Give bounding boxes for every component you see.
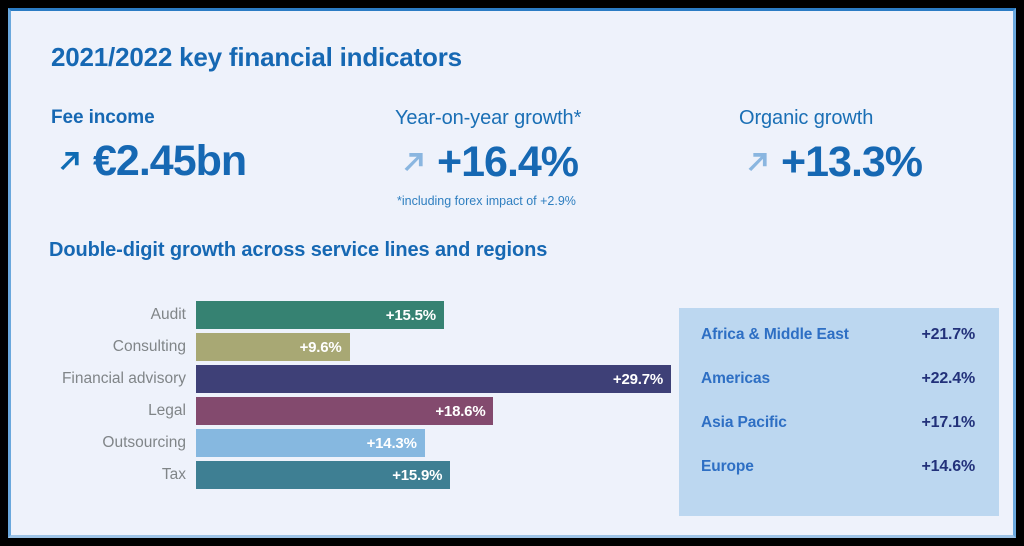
service-lines-bar-chart: Audit+15.5%Consulting+9.6%Financial advi… — [31, 301, 671, 493]
bar-value-label: +18.6% — [435, 403, 493, 420]
bar-category-label: Tax — [31, 466, 196, 484]
region-name: Africa & Middle East — [701, 326, 849, 344]
bar-value-label: +29.7% — [613, 371, 671, 388]
bar-track: +14.3% — [196, 429, 671, 457]
bar-category-label: Financial advisory — [31, 370, 196, 388]
arrow-up-right-icon — [739, 145, 773, 179]
bar-fill: +9.6% — [196, 333, 350, 361]
bar-value-label: +9.6% — [300, 339, 350, 356]
kpi-footnote: *including forex impact of +2.9% — [395, 194, 581, 208]
region-row: Europe+14.6% — [701, 458, 975, 502]
bar-row: Consulting+9.6% — [31, 333, 671, 361]
bar-value-label: +14.3% — [367, 435, 425, 452]
region-value: +17.1% — [921, 414, 975, 432]
region-value: +14.6% — [921, 458, 975, 476]
kpi-fee-income: Fee income €2.45bn — [51, 107, 246, 187]
bar-fill: +15.5% — [196, 301, 444, 329]
bar-row: Outsourcing+14.3% — [31, 429, 671, 457]
bar-value-label: +15.9% — [392, 467, 450, 484]
bar-fill: +29.7% — [196, 365, 671, 393]
region-value: +22.4% — [921, 370, 975, 388]
bar-track: +18.6% — [196, 397, 671, 425]
region-row: Americas+22.4% — [701, 370, 975, 414]
region-value: +21.7% — [921, 326, 975, 344]
bar-track: +9.6% — [196, 333, 671, 361]
infographic-card: 2021/2022 key financial indicators Fee i… — [8, 8, 1016, 538]
region-name: Europe — [701, 458, 754, 476]
bar-row: Tax+15.9% — [31, 461, 671, 489]
bar-value-label: +15.5% — [386, 307, 444, 324]
kpi-value: €2.45bn — [93, 140, 246, 183]
bar-fill: +14.3% — [196, 429, 425, 457]
kpi-label: Year-on-year growth* — [395, 107, 581, 130]
bar-category-label: Outsourcing — [31, 434, 196, 452]
bar-category-label: Legal — [31, 402, 196, 420]
kpi-value: +16.4% — [437, 141, 578, 184]
bar-track: +29.7% — [196, 365, 671, 393]
arrow-up-right-icon — [51, 144, 85, 178]
regions-panel: Africa & Middle East+21.7%Americas+22.4%… — [679, 308, 999, 516]
region-name: Asia Pacific — [701, 414, 787, 432]
page-title: 2021/2022 key financial indicators — [51, 42, 462, 73]
bar-fill: +15.9% — [196, 461, 450, 489]
kpi-value: +13.3% — [781, 141, 922, 184]
region-name: Americas — [701, 370, 770, 388]
kpi-label: Fee income — [51, 107, 246, 129]
bar-track: +15.9% — [196, 461, 671, 489]
bar-category-label: Audit — [31, 306, 196, 324]
bar-row: Audit+15.5% — [31, 301, 671, 329]
kpi-organic-growth: Organic growth +13.3% — [739, 107, 922, 188]
section-title: Double-digit growth across service lines… — [49, 239, 547, 262]
region-row: Asia Pacific+17.1% — [701, 414, 975, 458]
arrow-up-right-icon — [395, 145, 429, 179]
bar-row: Legal+18.6% — [31, 397, 671, 425]
kpi-year-on-year-growth: Year-on-year growth* +16.4% *including f… — [395, 107, 581, 208]
bar-row: Financial advisory+29.7% — [31, 365, 671, 393]
bar-fill: +18.6% — [196, 397, 493, 425]
region-row: Africa & Middle East+21.7% — [701, 326, 975, 370]
kpi-label: Organic growth — [739, 107, 922, 130]
bar-track: +15.5% — [196, 301, 671, 329]
bar-category-label: Consulting — [31, 338, 196, 356]
